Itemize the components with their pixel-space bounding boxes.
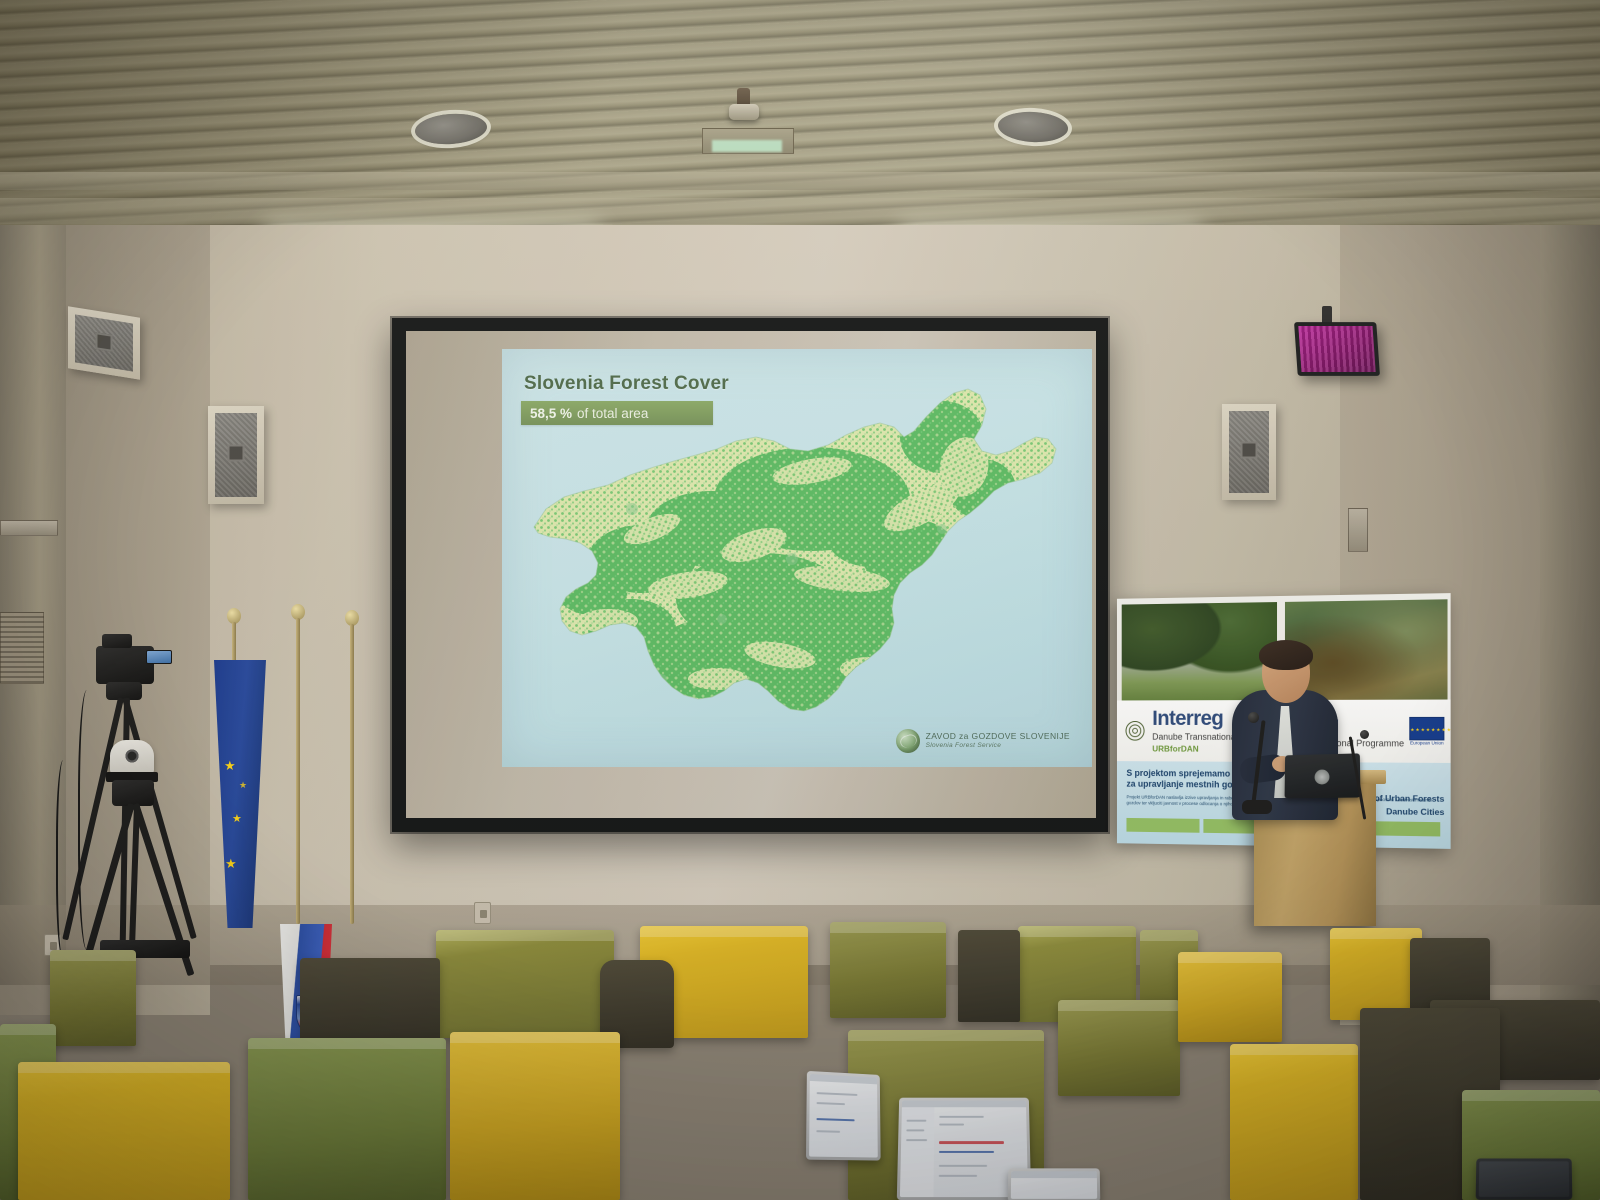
eu-flag-block: European Union	[1409, 717, 1444, 746]
laptop-screen	[1011, 1171, 1097, 1199]
seat-top-edge	[1462, 1090, 1600, 1101]
laptop-text-line	[939, 1165, 987, 1167]
eu-flag-caption: European Union	[1409, 740, 1444, 745]
seat-top-edge	[1018, 926, 1136, 937]
tablet-screen	[1479, 1161, 1570, 1196]
seat-top-edge	[1140, 930, 1198, 941]
tripod-head	[112, 780, 154, 806]
ceiling-beam	[0, 198, 1600, 224]
auditorium-seat[interactable]	[958, 930, 1020, 1022]
seat-top-edge	[450, 1032, 620, 1043]
laptop-toolbar	[902, 1101, 1026, 1108]
seat-top-edge	[18, 1062, 230, 1073]
microphone-head-icon	[1360, 730, 1369, 739]
logo-line-1: ZAVOD za GOZDOVE SLOVENIJE	[926, 732, 1070, 741]
laptop-toolbar	[810, 1074, 877, 1084]
slide-stat-label: of total area	[577, 406, 648, 421]
seat-top-edge	[1230, 1044, 1358, 1055]
seat-top-edge	[436, 930, 614, 941]
globe-tree-logo-icon	[896, 729, 920, 753]
laptop-toolbar	[1011, 1171, 1097, 1178]
eu-flag-icon	[1409, 717, 1444, 741]
interreg-mark-icon	[1123, 716, 1148, 745]
microphone-base	[1242, 800, 1272, 814]
wall-speaker	[68, 306, 140, 379]
auditorium-seat[interactable]	[436, 930, 614, 1038]
eu-star-icon: ★	[225, 856, 237, 872]
seat-top-edge	[50, 950, 136, 961]
presenter-laptop[interactable]	[1285, 753, 1361, 798]
wall-speaker	[208, 406, 264, 504]
laptop-text-line	[816, 1130, 840, 1133]
power-outlet[interactable]	[474, 902, 491, 924]
laptop-text-line	[906, 1139, 927, 1141]
laptop-text-line	[817, 1092, 858, 1096]
camera-lcd-screen	[146, 650, 172, 664]
wall-monitor[interactable]	[1294, 322, 1380, 376]
ceiling-light-glow	[712, 140, 782, 152]
speaker-grill-icon	[215, 413, 257, 497]
air-vent	[0, 612, 44, 684]
auditorium-seat[interactable]	[18, 1062, 230, 1200]
projection-screen: Slovenia Forest Cover 58,5 % of total ar…	[392, 318, 1108, 832]
auditorium-seat[interactable]	[50, 950, 136, 1046]
logo-line-2: Slovenia Forest Service	[926, 743, 1070, 750]
auditorium-seat[interactable]	[450, 1032, 620, 1200]
wooden-slat-ceiling	[0, 0, 1600, 232]
laptop-text-line	[816, 1118, 854, 1121]
auditorium-seat[interactable]	[1058, 1000, 1180, 1096]
wall-trim	[0, 520, 58, 536]
conference-room-photo: Slovenia Forest Cover 58,5 % of total ar…	[0, 0, 1600, 1200]
laptop-highlight-line	[939, 1141, 1004, 1144]
slide-stat-badge: 58,5 % of total area	[521, 401, 713, 425]
slide-title: Slovenia Forest Cover	[524, 373, 729, 395]
speaker-grill-icon	[75, 314, 133, 371]
slovenia-forest-map	[512, 379, 1082, 759]
seat-top-edge	[1058, 1000, 1180, 1011]
laptop-text-line	[817, 1102, 846, 1105]
presentation-slide: Slovenia Forest Cover 58,5 % of total ar…	[502, 349, 1092, 767]
ptz-camera	[110, 740, 154, 774]
camera-top-handle	[102, 634, 132, 648]
screen-surface: Slovenia Forest Cover 58,5 % of total ar…	[406, 331, 1096, 818]
laptop-text-line	[939, 1124, 964, 1126]
speaker-grill-icon	[1229, 411, 1269, 493]
seat-top-edge	[1330, 928, 1422, 939]
logo-text: ZAVOD za GOZDOVE SLOVENIJE Slovenia Fore…	[926, 732, 1070, 750]
microphone-head-icon	[1248, 712, 1259, 723]
eu-star-icon: ★	[224, 758, 236, 774]
audience-tablet[interactable]	[1476, 1158, 1573, 1199]
laptop-screen	[809, 1074, 878, 1158]
camera-cable	[78, 690, 100, 950]
eu-star-icon: ★	[239, 780, 247, 791]
wall-speaker	[1222, 404, 1276, 500]
eu-star-icon: ★	[232, 812, 242, 825]
ceiling-beam	[0, 172, 1600, 190]
presenter-hair	[1259, 640, 1313, 670]
camera-cable	[56, 760, 74, 960]
seat-top-edge	[0, 1024, 56, 1035]
flagpole	[296, 618, 300, 924]
flagpole	[350, 624, 354, 924]
seat-top-edge	[1178, 952, 1282, 963]
projector-icon	[729, 104, 759, 120]
seat-top-edge	[640, 926, 808, 937]
wall-conduit	[1348, 508, 1368, 552]
auditorium-seat[interactable]	[1330, 928, 1422, 1020]
auditorium-seat[interactable]	[248, 1038, 446, 1200]
laptop-text-line	[907, 1120, 927, 1122]
seat-top-edge	[830, 922, 946, 933]
laptop-text-line	[939, 1151, 995, 1153]
audience-laptop[interactable]	[1008, 1168, 1101, 1200]
seat-top-edge	[848, 1030, 1044, 1041]
banner-photo-forest-view	[1122, 602, 1277, 704]
partner-logo	[1126, 818, 1199, 833]
audience-laptop[interactable]	[806, 1071, 881, 1161]
seat-top-edge	[248, 1038, 446, 1049]
monitor-screen	[1298, 326, 1375, 372]
auditorium-seat[interactable]	[300, 958, 440, 1050]
slide-organisation-logo: ZAVOD za GOZDOVE SLOVENIJE Slovenia Fore…	[896, 729, 1070, 753]
laptop-text-line	[939, 1116, 984, 1118]
auditorium-seat[interactable]	[1230, 1044, 1358, 1200]
laptop-text-line	[939, 1175, 977, 1177]
slide-stat-value: 58,5 %	[530, 406, 572, 421]
auditorium-seat[interactable]	[1178, 952, 1282, 1042]
auditorium-seat[interactable]	[830, 922, 946, 1018]
map-svg	[512, 379, 1082, 759]
laptop-text-line	[906, 1129, 924, 1131]
